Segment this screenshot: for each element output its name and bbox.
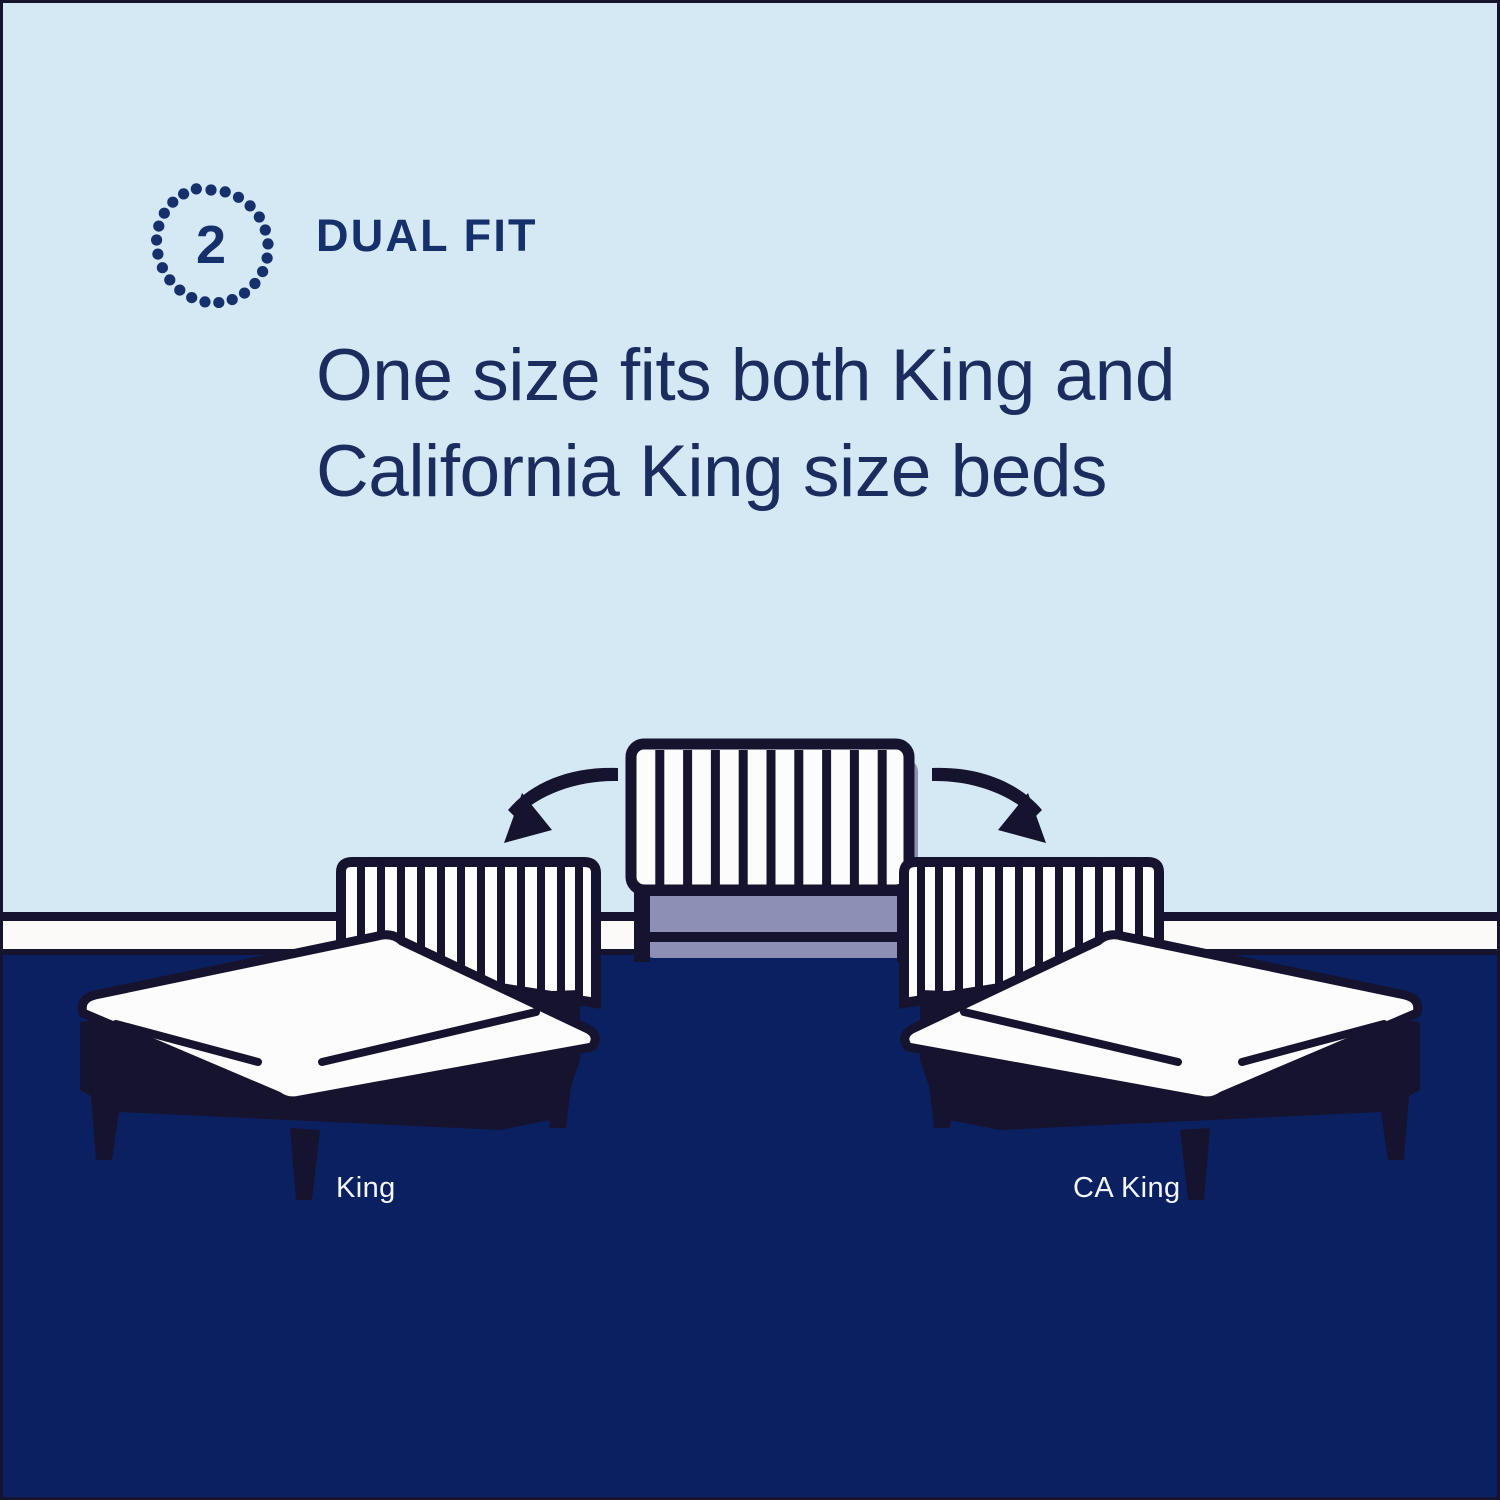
ca-king-bed-label: CA King bbox=[1073, 1172, 1181, 1205]
step-number: 2 bbox=[148, 182, 274, 308]
headline-line-2: California King size beds bbox=[316, 424, 1386, 520]
headboard-rail-lower bbox=[634, 932, 913, 942]
dual-fit-infographic: 2 DUAL FIT One size fits both King and C… bbox=[0, 0, 1500, 1500]
king-bed-label: King bbox=[336, 1172, 396, 1205]
center-headboard bbox=[631, 744, 918, 962]
step-badge: 2 bbox=[148, 182, 274, 308]
section-eyebrow: DUAL FIT bbox=[316, 210, 538, 262]
headline-line-1: One size fits both King and bbox=[316, 328, 1386, 424]
page-title: One size fits both King and California K… bbox=[316, 328, 1386, 519]
